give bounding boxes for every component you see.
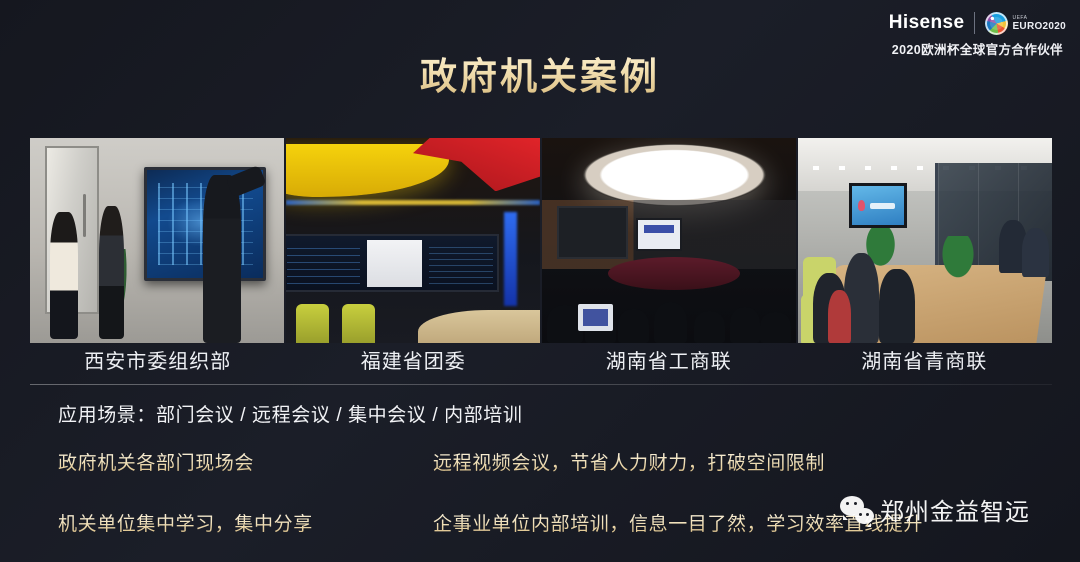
- bullet-item: 机关单位集中学习，集中分享: [58, 509, 433, 536]
- wechat-watermark: 郑州金益智远: [840, 492, 1030, 527]
- conference-table-shape: [418, 310, 540, 343]
- person-shape: [618, 309, 648, 343]
- bullet-item: 远程视频会议，节省人力财力，打破空间限制: [433, 448, 1018, 475]
- caption-xian: 西安市委组织部: [30, 345, 286, 379]
- brand-logo-row: Hisense UEFA EURO2020: [889, 10, 1066, 36]
- presentation-screen: [636, 218, 682, 251]
- photo-captions: 西安市委组织部 福建省团委 湖南省工商联 湖南省青商联: [30, 345, 1052, 379]
- wechat-icon: [840, 496, 874, 524]
- ceiling-glow-strip: [286, 200, 540, 205]
- brand-divider: [974, 12, 975, 34]
- page-title: 政府机关案例: [0, 46, 1080, 100]
- laptop-shape: [578, 304, 614, 331]
- person-shape: [760, 312, 790, 343]
- photo-conference-hall-videowall: [286, 138, 540, 343]
- bullet-item: 政府机关各部门现场会: [58, 448, 433, 475]
- photo-modern-boardroom: [798, 138, 1052, 343]
- person-shape: [694, 311, 724, 343]
- person-shape: [50, 212, 78, 339]
- chair-shape: [342, 304, 375, 343]
- photo-office-interactive-display: [30, 138, 284, 343]
- euro-wordmark: EURO2020: [1012, 21, 1066, 32]
- euro-text-block: UEFA EURO2020: [1012, 15, 1066, 32]
- chair-shape: [296, 304, 329, 343]
- video-wall-left-panel: [287, 242, 360, 285]
- person-shape: [203, 175, 241, 343]
- blue-light-column: [504, 212, 517, 306]
- wall-dark-panel: [557, 206, 628, 259]
- hisense-wordmark: Hisense: [889, 10, 965, 36]
- euro-2020-logo: UEFA EURO2020: [985, 12, 1066, 35]
- euro-football-icon: [985, 12, 1008, 35]
- application-scenario-line: 应用场景：部门会议 / 远程会议 / 集中会议 / 内部培训: [58, 400, 523, 427]
- person-shape: [730, 307, 760, 343]
- person-shape: [828, 290, 851, 343]
- plant-shape: [940, 236, 976, 281]
- person-shape: [1022, 228, 1050, 277]
- oval-ceiling-light: [583, 144, 766, 206]
- photo-strip: [30, 138, 1052, 343]
- person-shape: [654, 302, 687, 343]
- caption-fujian: 福建省团委: [286, 345, 542, 379]
- video-wall-center-panel: [367, 240, 423, 287]
- presentation-slide: Hisense UEFA EURO2020 2020欧洲杯全球官方合作伙伴 政府…: [0, 0, 1080, 562]
- caption-hunan-qingshanglian: 湖南省青商联: [797, 345, 1053, 379]
- section-divider: [30, 384, 1052, 385]
- watermark-text: 郑州金益智远: [880, 492, 1030, 527]
- person-shape: [879, 269, 915, 343]
- caption-hunan-gongshanglian: 湖南省工商联: [541, 345, 797, 379]
- photo-round-table-meeting: [542, 138, 796, 343]
- video-wall: [286, 234, 499, 291]
- person-shape: [99, 206, 124, 339]
- video-wall-right-panel: [429, 242, 493, 285]
- wall-display-screen: [849, 183, 907, 228]
